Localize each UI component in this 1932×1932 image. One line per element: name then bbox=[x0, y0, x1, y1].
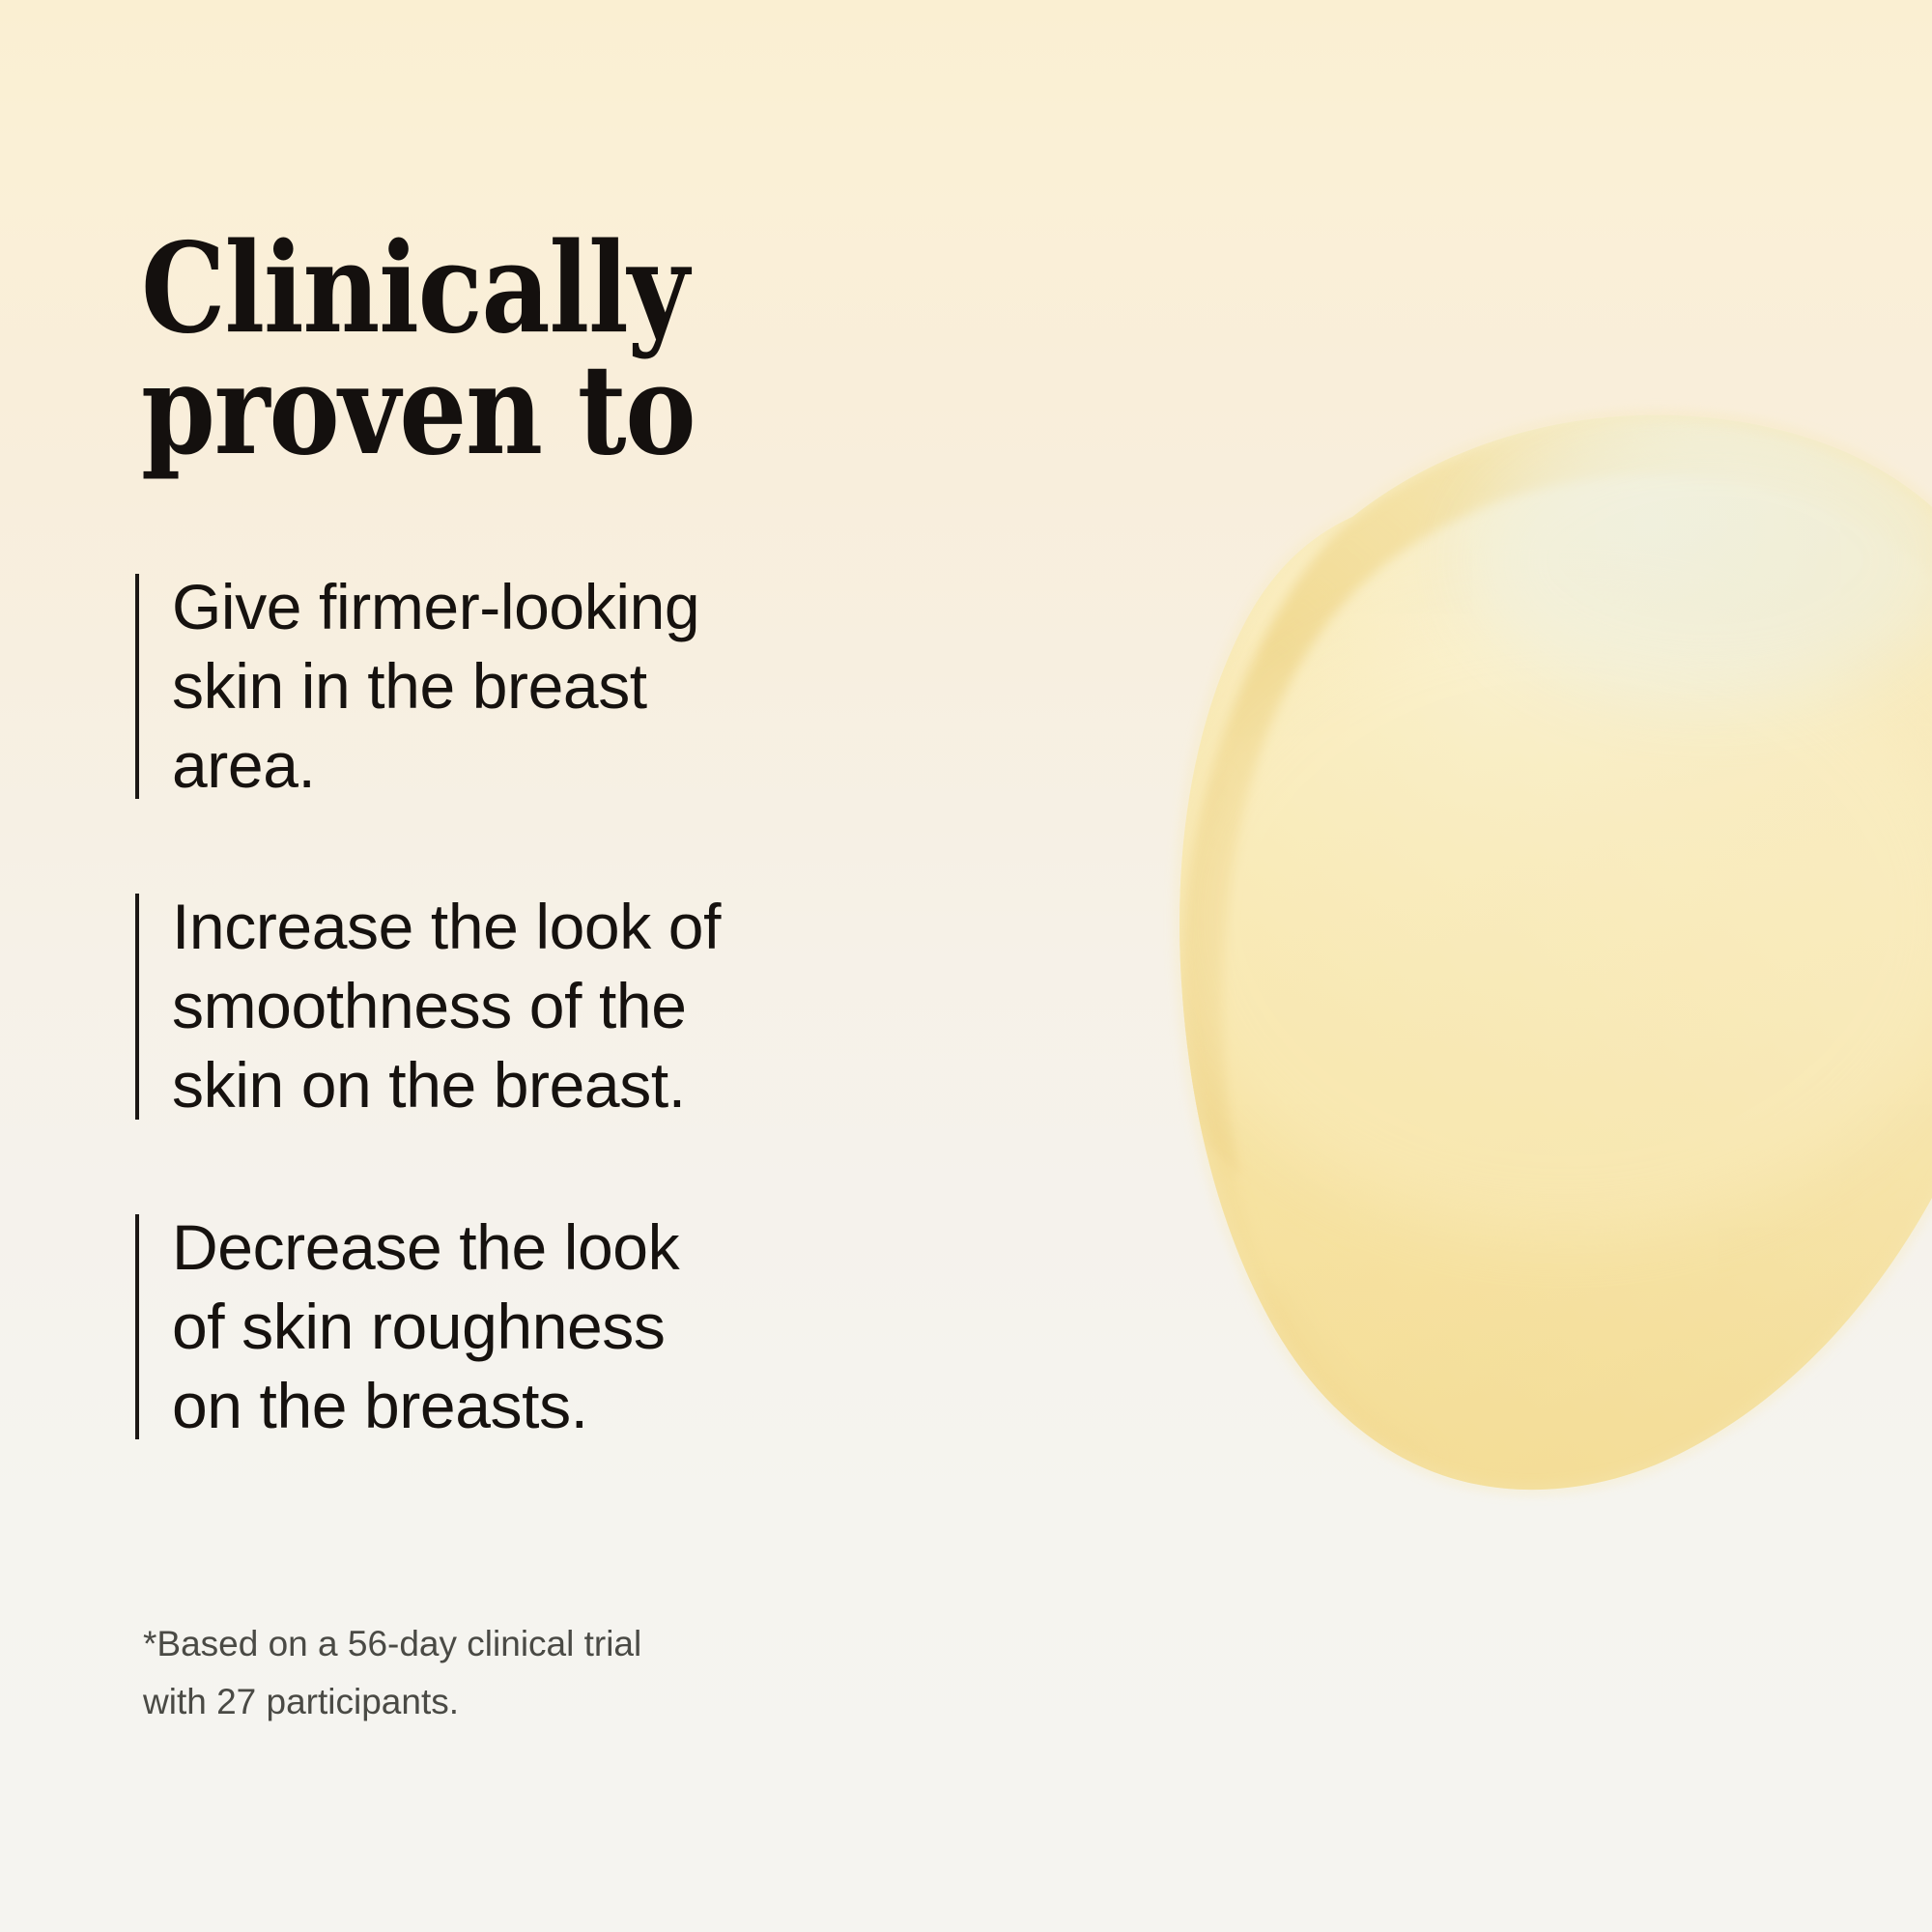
claim-text: Increase the look of smoothness of the s… bbox=[172, 888, 1005, 1124]
vertical-rule-icon bbox=[135, 1214, 139, 1439]
list-item: Give firmer-looking skin in the breast a… bbox=[135, 568, 1005, 805]
vertical-rule-icon bbox=[135, 574, 139, 799]
list-item: Decrease the look of skin roughness on t… bbox=[135, 1208, 1005, 1445]
text-column: Clinically proven to Give firmer-looking… bbox=[0, 0, 1014, 1932]
list-item: Increase the look of smoothness of the s… bbox=[135, 888, 1005, 1124]
promo-canvas: Clinically proven to Give firmer-looking… bbox=[0, 0, 1932, 1932]
claims-list: Give firmer-looking skin in the breast a… bbox=[135, 568, 1005, 1445]
claim-text: Decrease the look of skin roughness on t… bbox=[172, 1208, 1005, 1445]
footnote-disclaimer: *Based on a 56-day clinical trial with 2… bbox=[143, 1615, 877, 1731]
vertical-rule-icon bbox=[135, 894, 139, 1119]
page-title: Clinically proven to bbox=[141, 228, 822, 472]
claim-text: Give firmer-looking skin in the breast a… bbox=[172, 568, 1005, 805]
